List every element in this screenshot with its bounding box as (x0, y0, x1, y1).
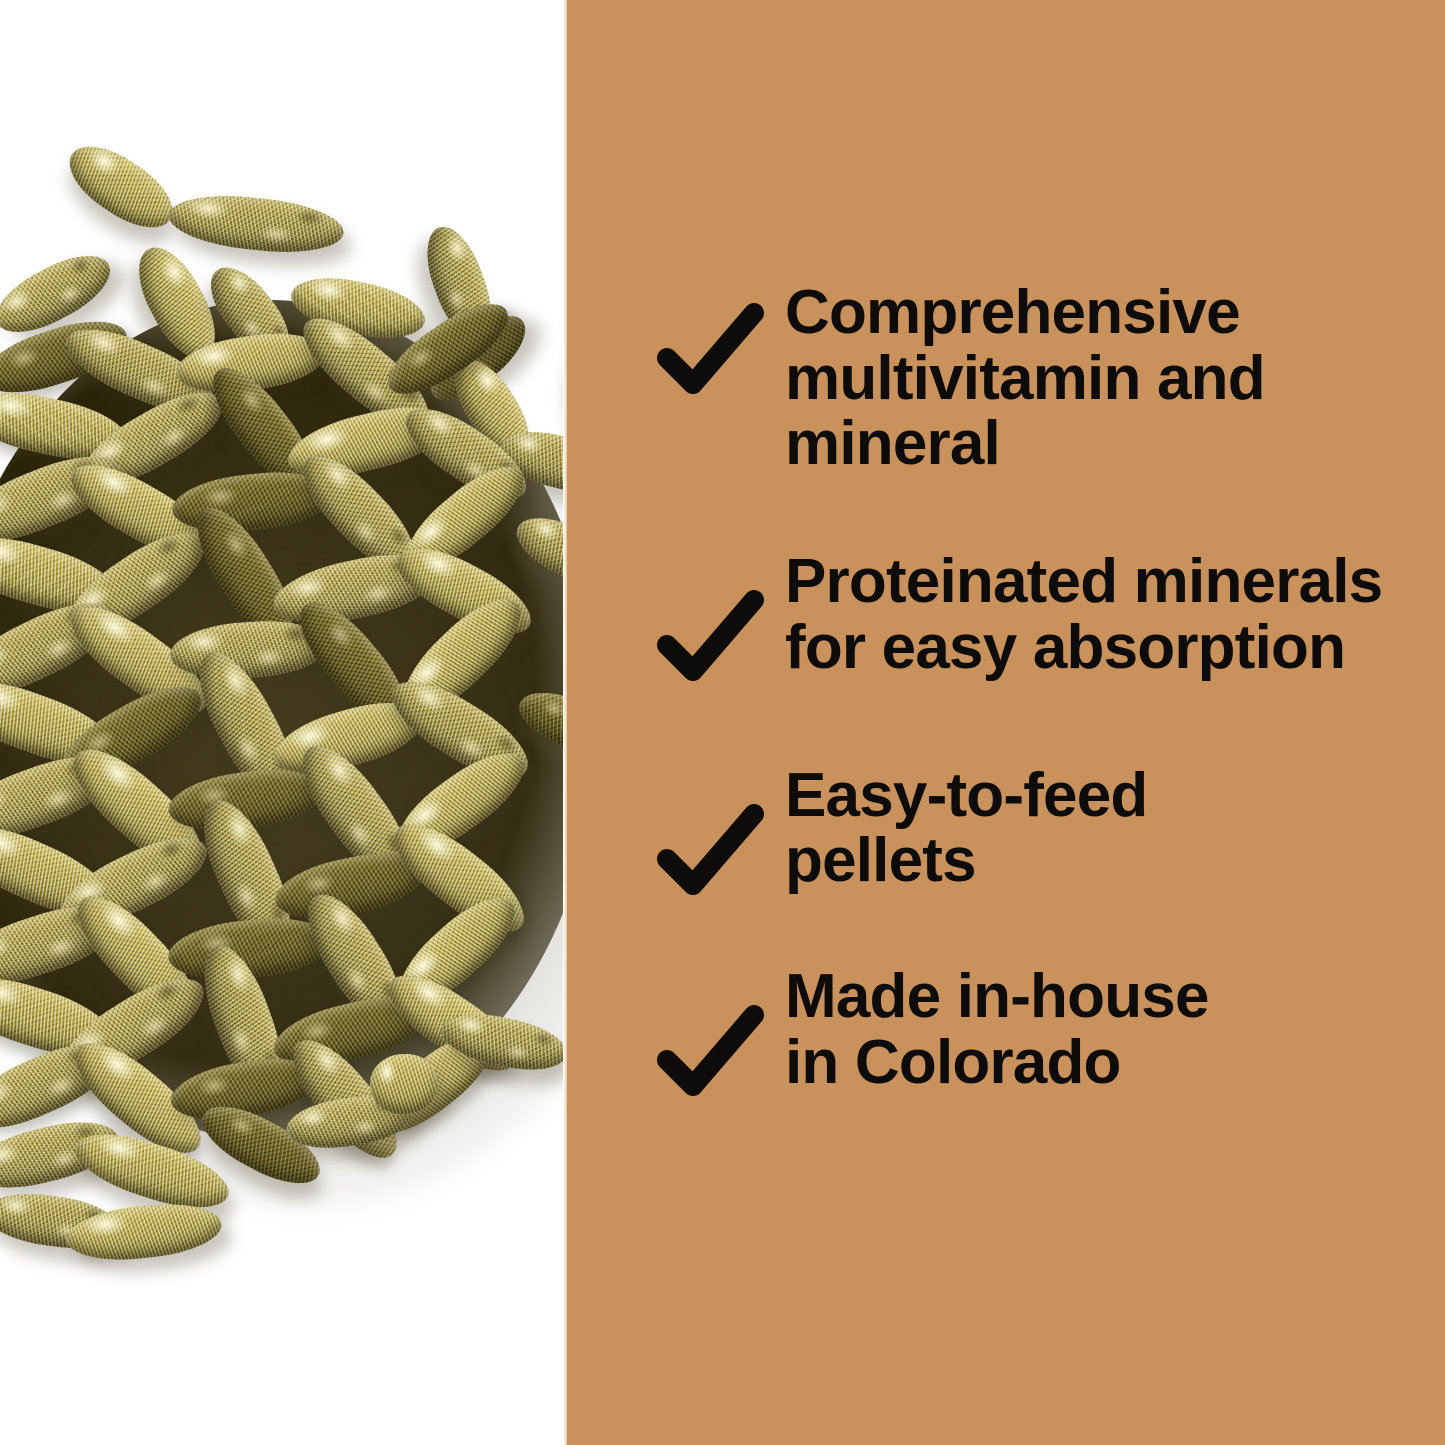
feature-panel: Comprehensive multivitamin and mineral P… (567, 0, 1445, 1445)
pellet (57, 132, 185, 243)
checkmark-icon (657, 581, 765, 689)
feature-bullet-text: Comprehensive multivitamin and mineral (785, 280, 1445, 477)
checkmark-icon (657, 795, 765, 903)
product-feature-graphic: Comprehensive multivitamin and mineral P… (0, 0, 1445, 1445)
panel-divider (563, 0, 567, 1445)
feature-bullet-text: Easy-to-feed pellets (785, 763, 1445, 894)
feature-bullet-2: Proteinated minerals for easy absorption (657, 549, 1445, 680)
feature-bullet-3: Easy-to-feed pellets (657, 763, 1445, 894)
feature-bullet-text: Proteinated minerals for easy absorption (785, 549, 1445, 680)
product-photo-panel (0, 0, 567, 1445)
feature-bullet-list: Comprehensive multivitamin and mineral P… (657, 280, 1445, 1095)
checkmark-icon (657, 996, 765, 1104)
checkmark-icon (657, 294, 765, 402)
feature-bullet-text: Made in-house in Colorado (785, 964, 1445, 1095)
feature-bullet-4: Made in-house in Colorado (657, 964, 1445, 1095)
pellet (166, 189, 346, 259)
feature-bullet-1: Comprehensive multivitamin and mineral (657, 280, 1445, 477)
